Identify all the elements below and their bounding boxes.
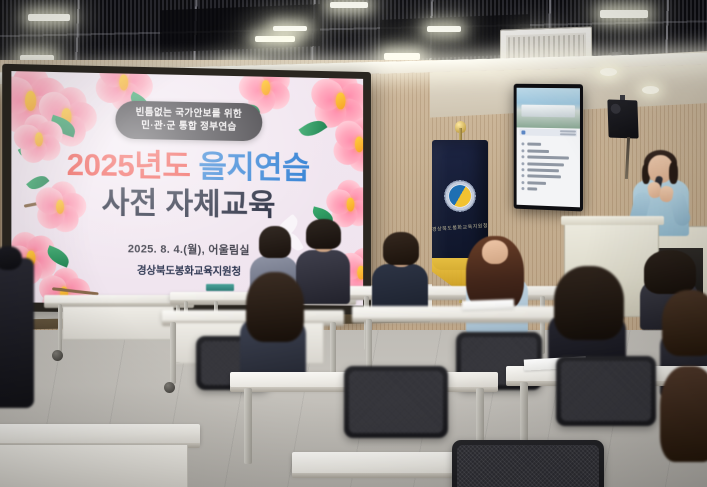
- attendee-hair: [383, 232, 419, 265]
- chair: [344, 366, 448, 438]
- wall-speaker: [607, 99, 638, 138]
- document-date-block: [560, 130, 576, 138]
- side-monitor-screen: [517, 88, 580, 208]
- flag-text: 경상북도봉화교육지원청: [432, 222, 488, 233]
- table-leg: [170, 322, 176, 384]
- attendee-hair: [660, 366, 707, 462]
- slide-banner: 빈틈없는 국가안보를 위한 민·관·군 통합 정부연습: [115, 100, 262, 141]
- slide-title-line1: 2025년도 을지연습: [11, 148, 363, 185]
- list-item: [521, 175, 575, 180]
- list-item: [521, 143, 575, 147]
- presenter-hair-side: [669, 162, 678, 184]
- table-modesty-panel: [0, 444, 188, 487]
- attendee-hair: [644, 250, 696, 294]
- slide-title-year: 2025년도: [67, 147, 191, 184]
- table-modesty-panel: [62, 306, 174, 340]
- document-paper: [462, 299, 514, 310]
- table-row: [0, 424, 200, 444]
- list-item: [521, 168, 575, 173]
- downlight: [642, 86, 659, 94]
- list-item: [521, 187, 575, 192]
- document-photo-header: [517, 88, 580, 129]
- table-leg: [244, 388, 252, 464]
- attendee-hair: [246, 272, 304, 342]
- chair: [452, 440, 604, 487]
- slide-title-line2: 사전 자체교육: [11, 187, 363, 222]
- attendee-hair: [306, 219, 341, 249]
- table-caster: [164, 382, 175, 393]
- ceiling-light: [427, 26, 461, 32]
- attendee-torso: [296, 250, 350, 304]
- attendee-hair: [554, 266, 624, 340]
- flag-emblem-icon: [442, 178, 478, 214]
- list-item: [521, 181, 575, 186]
- list-item: [521, 149, 575, 153]
- lecture-room-photo: 빈틈없는 국가안보를 위한 민·관·군 통합 정부연습 2025년도 을지연습 …: [0, 0, 707, 487]
- downlight: [600, 68, 617, 76]
- slide-title-event: 을지연습: [199, 149, 310, 186]
- standing-attendee-body: [0, 258, 34, 408]
- chair: [556, 356, 656, 426]
- ceiling-light: [273, 26, 307, 31]
- notebook: [206, 284, 234, 291]
- list-item: [521, 156, 575, 161]
- document-agenda-list: [521, 143, 575, 196]
- side-monitor: [514, 84, 583, 212]
- attendee-hair: [662, 290, 707, 356]
- table-caster: [52, 350, 63, 361]
- lectern-top: [561, 216, 664, 225]
- ceiling-light: [384, 53, 420, 60]
- ceiling-light: [255, 36, 295, 42]
- banner-line-2: 민·관·군 통합 정부연습: [136, 119, 243, 134]
- attendee-head: [482, 240, 508, 264]
- ceiling-light: [28, 14, 70, 21]
- ceiling-light: [330, 2, 368, 8]
- attendee-hair: [259, 226, 291, 258]
- ceiling-light: [600, 10, 648, 18]
- standing-attendee-head: [0, 246, 22, 270]
- list-item: [521, 162, 575, 167]
